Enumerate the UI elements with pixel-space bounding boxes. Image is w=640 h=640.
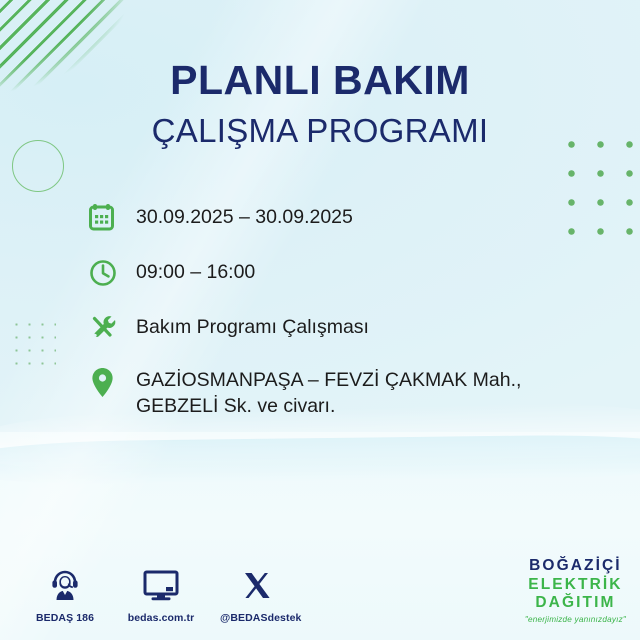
dot-grid-left-decoration [8, 316, 56, 368]
info-row-location: GAZİOSMANPAŞA – FEVZİ ÇAKMAK Mah., GEBZE… [86, 365, 606, 419]
contact-website-label: bedas.com.tr [128, 612, 195, 624]
info-row-worktype: Bakım Programı Çalışması [86, 310, 606, 346]
contact-phone-label: BEDAŞ 186 [36, 612, 94, 624]
headset-support-icon [28, 566, 102, 602]
contact-social[interactable]: @BEDASdestek [220, 566, 294, 626]
wave-divider-bottom [0, 433, 640, 487]
planned-maintenance-poster: PLANLI BAKIM ÇALIŞMA PROGRAMI 30.09.2025… [0, 0, 640, 640]
poster-title: PLANLI BAKIM ÇALIŞMA PROGRAMI [0, 60, 640, 147]
brand-line-3: DAĞITIM [525, 595, 626, 611]
circle-outline-decoration [12, 140, 64, 192]
info-row-time: 09:00 – 16:00 [86, 255, 606, 291]
info-row-date: 30.09.2025 – 30.09.2025 [86, 200, 606, 236]
info-list: 30.09.2025 – 30.09.2025 09:00 – 16:00 [86, 200, 606, 438]
bedas-logo: BOĞAZİÇİ ELEKTRİK DAĞITIM "enerjimizde y… [525, 558, 626, 624]
address-text: GAZİOSMANPAŞA – FEVZİ ÇAKMAK Mah., GEBZE… [136, 365, 521, 419]
monitor-icon [124, 566, 198, 602]
work-type-text: Bakım Programı Çalışması [136, 310, 369, 340]
address-line-2: GEBZELİ Sk. ve civarı. [136, 393, 521, 419]
contact-website[interactable]: bedas.com.tr [124, 566, 198, 626]
address-line-1: GAZİOSMANPAŞA – FEVZİ ÇAKMAK Mah., [136, 367, 521, 393]
brand-line-2: ELEKTRİK [525, 577, 626, 593]
tools-icon [86, 310, 122, 346]
contact-social-label: @BEDASdestek [220, 612, 301, 624]
footer: BEDAŞ 186 bedas.com.tr [0, 550, 640, 640]
date-range-text: 30.09.2025 – 30.09.2025 [136, 200, 353, 230]
location-pin-icon [86, 365, 122, 401]
x-twitter-icon [220, 566, 294, 602]
calendar-icon [86, 200, 122, 236]
title-main: PLANLI BAKIM [0, 60, 640, 101]
contact-list: BEDAŞ 186 bedas.com.tr [28, 566, 294, 626]
title-sub: ÇALIŞMA PROGRAMI [0, 114, 640, 147]
time-range-text: 09:00 – 16:00 [136, 255, 255, 285]
brand-tagline: "enerjimizde yanınızdayız" [525, 616, 626, 624]
brand-line-1: BOĞAZİÇİ [525, 558, 626, 574]
contact-phone[interactable]: BEDAŞ 186 [28, 566, 102, 626]
clock-icon [86, 255, 122, 291]
